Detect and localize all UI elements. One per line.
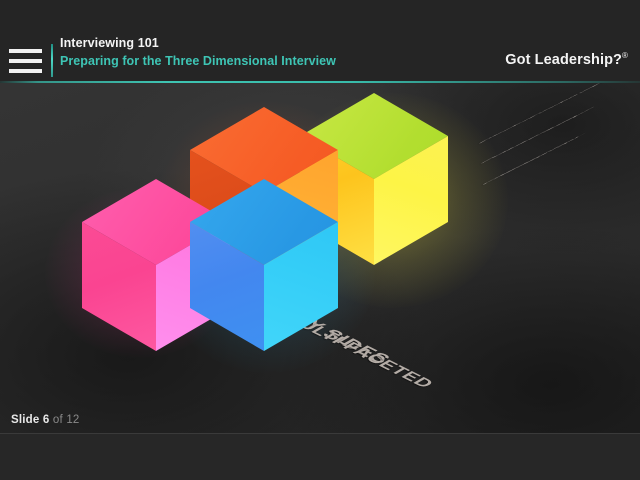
hamburger-menu-icon[interactable] xyxy=(9,49,42,73)
slide-canvas: CHARACTARISTICS COMMITMENT CHEMISTRY CUB… xyxy=(0,83,640,433)
slide-counter-number: 6 xyxy=(43,414,50,426)
footer-divider xyxy=(0,433,640,434)
wall-label-charactaristics: CHARACTARISTICS xyxy=(474,83,619,147)
header-vertical-divider xyxy=(51,44,53,77)
header-title-group: Interviewing 101 Preparing for the Three… xyxy=(60,35,336,69)
slide-footer: Slide 6 of 12 xyxy=(0,433,640,480)
wall-label-chemistry: CHEMISTRY xyxy=(475,131,589,189)
slide-counter-total: 12 xyxy=(66,414,79,426)
course-subtitle: Preparing for the Three Dimensional Inte… xyxy=(60,53,336,69)
hamburger-bar-2 xyxy=(9,59,42,63)
brand-logo: Got Leadership?® xyxy=(505,51,628,68)
hamburger-bar-3 xyxy=(9,69,42,73)
registered-trademark-icon: ® xyxy=(622,51,628,60)
slide-counter: Slide 6 of 12 xyxy=(11,414,80,426)
header-accent-rule xyxy=(0,81,640,83)
slide-counter-label: Slide xyxy=(11,414,39,426)
slide-counter-of: of xyxy=(53,414,63,426)
brand-name: Got Leadership? xyxy=(505,52,622,68)
hamburger-bar-1 xyxy=(9,49,42,53)
slide-header: Interviewing 101 Preparing for the Three… xyxy=(0,0,640,83)
course-title: Interviewing 101 xyxy=(60,35,336,51)
presentation-slide: CHARACTARISTICS COMMITMENT CHEMISTRY CUB… xyxy=(0,0,640,480)
blue-cube xyxy=(190,179,338,351)
